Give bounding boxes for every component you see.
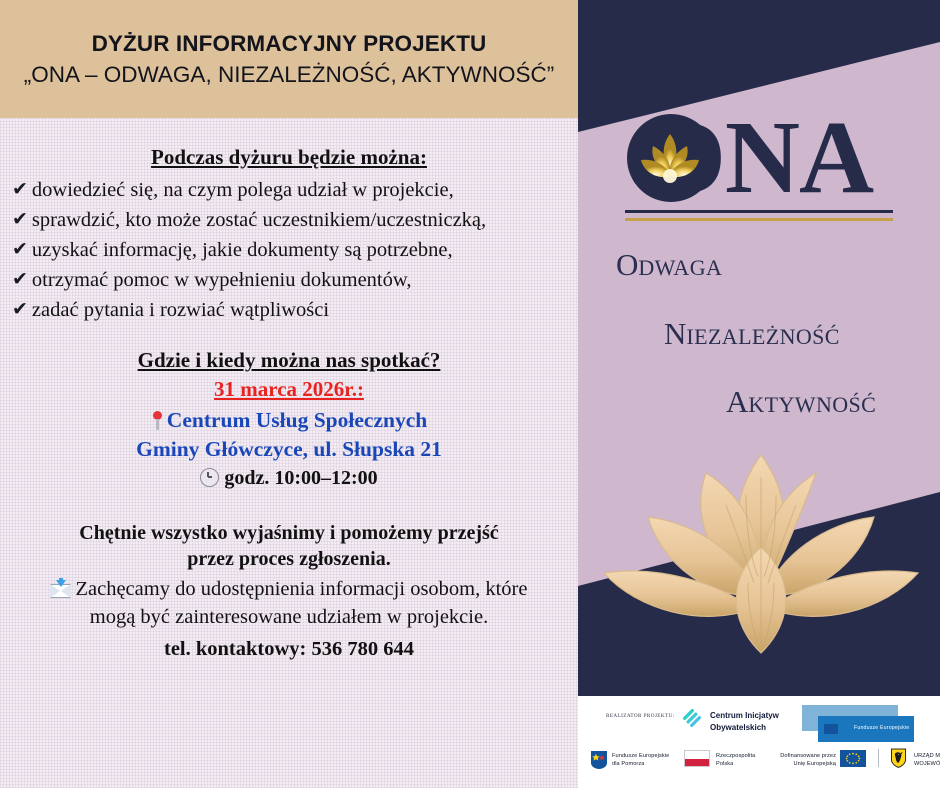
logo-eu-flag: [840, 750, 866, 772]
caption-line2: WOJEWÓDZTWA POMORSKIEGO: [914, 760, 940, 768]
check-icon: ✔: [12, 296, 28, 323]
check-icon: ✔: [12, 176, 28, 203]
meeting-block: Gdzie i kiedy można nas spotkać? 31 marc…: [0, 348, 578, 489]
caption-line1: Dofinansowane przez: [774, 752, 836, 760]
page-subtitle: „ONA – ODWAGA, NIEZALEŻNOŚĆ, AKTYWNOŚĆ”: [0, 61, 578, 88]
logo-caption-fundusze: Fundusze Europejskie dla Pomorza: [612, 752, 669, 769]
realizator-label: REALIZATOR PROJEKTU:: [606, 713, 675, 719]
caption-line2: Polska: [716, 760, 755, 768]
cio-logo-text: Centrum Inicjatyw Obywatelskich: [710, 710, 779, 733]
fe-badge: Fundusze Europejskie: [818, 716, 914, 742]
footer-row-realizator: REALIZATOR PROJEKTU: Centrum Inicjatyw O…: [578, 702, 940, 742]
meeting-question: Gdzie i kiedy można nas spotkać?: [138, 348, 441, 373]
check-icon: ✔: [12, 206, 28, 233]
list-item-label: dowiedzieć się, na czym polega udział w …: [32, 179, 454, 201]
eu-flag-icon: [840, 750, 866, 767]
benefits-heading-text: Podczas dyżuru będzie można:: [151, 145, 427, 169]
fe-badge-label: Fundusze Europejskie: [854, 725, 909, 731]
value-initial: N: [664, 316, 686, 351]
closing-line1: Chętnie wszystko wyjaśnimy i pomożemy pr…: [0, 520, 578, 546]
share-line1: Zachęcamy do udostępnienia informacji os…: [0, 576, 578, 603]
flag-red-stripe: [685, 759, 709, 767]
list-item: ✔uzyskać informację, jakie dokumenty są …: [12, 236, 572, 265]
contact-phone: tel. kontaktowy: 536 780 644: [0, 638, 578, 661]
ona-rule-gold: [625, 218, 893, 221]
meeting-time: godz. 10:00–12:00: [0, 467, 578, 490]
logo-caption-ue: Dofinansowane przez Unię Europejską: [774, 752, 836, 769]
share-line2: mogą być zainteresowane udziałem w proje…: [0, 604, 578, 631]
poland-flag-icon: [684, 750, 710, 767]
page-title: DYŻUR INFORMACYJNY PROJEKTU: [0, 30, 578, 57]
footer-divider: [878, 749, 879, 767]
footer-row-funding: Fundusze Europejskie dla Pomorza Rzeczpo…: [578, 744, 940, 784]
cio-line1: Centrum Inicjatyw: [710, 710, 779, 722]
list-item: ✔zadać pytania i rozwiać wątpliwości: [12, 296, 572, 325]
list-item: ✔otrzymać pomoc w wypełnieniu dokumentów…: [12, 266, 572, 295]
check-icon: ✔: [12, 266, 28, 293]
closing-block: Chętnie wszystko wyjaśnimy i pomożemy pr…: [0, 520, 578, 662]
caption-line1: Fundusze Europejskie: [612, 752, 669, 760]
list-item: ✔dowiedzieć się, na czym polega udział w…: [12, 176, 572, 205]
caption-line2: dla Pomorza: [612, 760, 669, 768]
cio-logo-icon: [682, 708, 704, 730]
flag-white-stripe: [685, 751, 709, 759]
inbox-tray-icon: [50, 582, 71, 598]
meeting-date: 31 marca 2026r.:: [0, 377, 578, 402]
list-item-label: uzyskać informację, jakie dokumenty są p…: [32, 239, 453, 261]
logo-caption-polska: Rzeczpospolita Polska: [716, 752, 755, 769]
ona-logo: ONA: [578, 108, 940, 221]
list-item-label: otrzymać pomoc w wypełnieniu dokumentów,: [32, 269, 412, 291]
header-band: DYŻUR INFORMACYJNY PROJEKTU „ONA – ODWAG…: [0, 0, 578, 118]
meeting-place-line2: Gminy Główczyce, ul. Słupska 21: [0, 435, 578, 464]
logo-polska-flag: [684, 750, 710, 767]
value-rest: IEZALEŻNOŚĆ: [686, 324, 840, 349]
meeting-time-text: godz. 10:00–12:00: [224, 467, 377, 489]
closing-line2: przez proces zgłoszenia.: [0, 546, 578, 572]
main-content: Podczas dyżuru będzie można: ✔dowiedzieć…: [0, 118, 578, 788]
logo-caption-urzad: URZĄD MARSZAŁKOWSKI WOJEWÓDZTWA POMORSKI…: [914, 752, 940, 769]
lotus-flower-icon: [586, 425, 936, 675]
lotus-badge-icon: [639, 130, 701, 186]
pomorskie-griffin-icon: [890, 748, 907, 768]
meeting-place-text: Centrum Usług Społecznych: [167, 408, 427, 432]
caption-line2: Unię Europejską: [774, 760, 836, 768]
benefits-list: ✔dowiedzieć się, na czym polega udział w…: [0, 176, 578, 324]
fe-stars-icon: [590, 750, 608, 770]
meeting-place-line1: Centrum Usług Społecznych: [0, 406, 578, 435]
cio-line2: Obywatelskich: [710, 722, 779, 734]
share-line1-text: Zachęcamy do udostępnienia informacji os…: [75, 578, 527, 600]
ona-logo-wrap: ONA: [625, 108, 893, 221]
check-icon: ✔: [12, 236, 28, 263]
caption-line1: URZĄD MARSZAŁKOWSKI: [914, 752, 940, 760]
list-item: ✔sprawdzić, kto może zostać uczestnikiem…: [12, 206, 572, 235]
value-word-aktywnosc: AKTYWNOŚĆ: [726, 384, 876, 420]
caption-line1: Rzeczpospolita: [716, 752, 755, 760]
value-word-odwaga: ODWAGA: [616, 247, 722, 283]
fe-badge-flag-icon: [824, 724, 838, 734]
benefits-heading: Podczas dyżuru będzie można:: [0, 145, 578, 170]
logo-fundusze-europejskie: [590, 750, 608, 775]
logo-urzad-marszalkowski: [890, 748, 907, 773]
list-item-label: sprawdzić, kto może zostać uczestnikiem/…: [32, 209, 486, 231]
round-pushpin-icon: [151, 411, 163, 431]
poster-canvas: DYŻUR INFORMACYJNY PROJEKTU „ONA – ODWAG…: [0, 0, 940, 788]
clock-icon: [200, 468, 219, 487]
value-initial: A: [726, 384, 748, 419]
value-initial: O: [616, 247, 638, 282]
brand-panel: ONA ODWAGA NIEZALEŻNOŚĆ AKTYWNOŚĆ REALIZ…: [578, 0, 940, 788]
value-rest: DWAGA: [638, 255, 722, 280]
footer-logos: REALIZATOR PROJEKTU: Centrum Inicjatyw O…: [578, 696, 940, 788]
value-rest: KTYWNOŚĆ: [748, 392, 876, 417]
list-item-label: zadać pytania i rozwiać wątpliwości: [32, 299, 329, 321]
value-word-niezaleznosc: NIEZALEŻNOŚĆ: [664, 316, 840, 352]
